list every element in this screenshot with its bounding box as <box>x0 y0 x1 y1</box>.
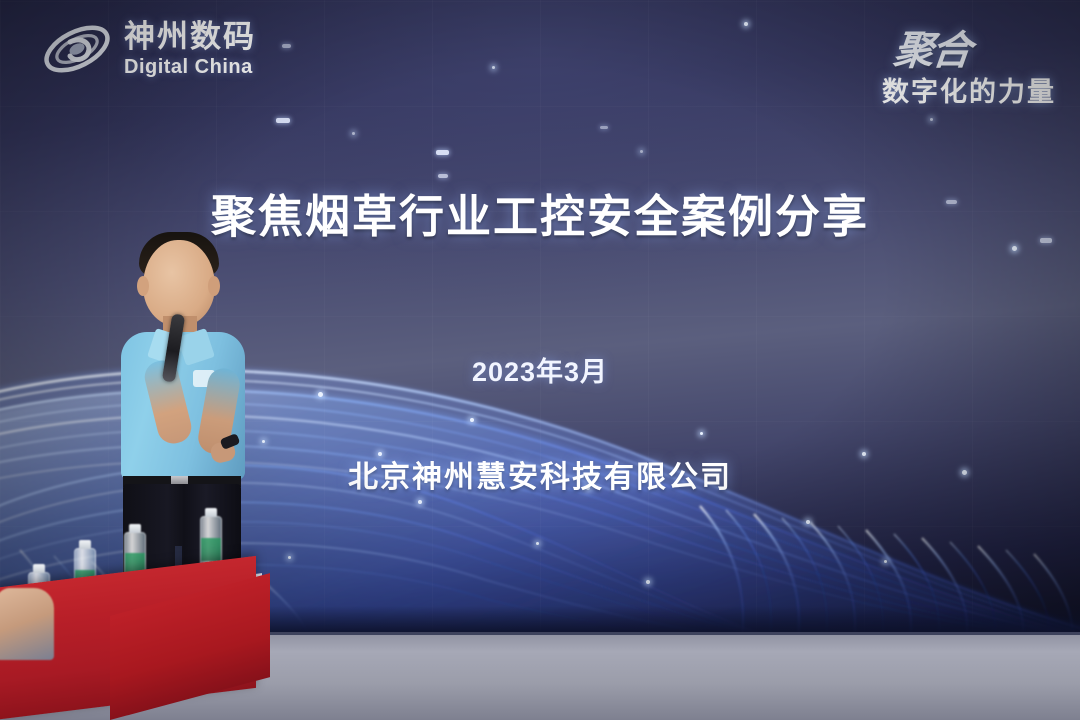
speaker-ear-right <box>208 276 220 296</box>
bottle-cap <box>205 508 217 517</box>
bottle-cap <box>33 564 45 573</box>
event-calligraphy: 聚合 <box>803 18 973 76</box>
bottle-label <box>201 538 221 560</box>
digital-china-swirl-icon <box>40 18 114 80</box>
event-slogan-lockup: 聚合 数字化的力量 <box>806 18 1056 109</box>
brand-name-en: Digital China <box>124 57 256 77</box>
conference-photo: 聚焦烟草行业工控安全案例分享 2023年3月 北京神州慧安科技有限公司 神州数码… <box>0 0 1080 720</box>
seated-attendee <box>0 588 54 660</box>
bottle-cap <box>129 524 141 533</box>
digital-china-logo-lockup: 神州数码 Digital China <box>40 18 256 80</box>
bottle-cap <box>79 540 91 549</box>
speaker-ear-left <box>137 276 149 296</box>
brand-name-cn: 神州数码 <box>124 21 256 52</box>
speaker-head <box>143 240 215 326</box>
